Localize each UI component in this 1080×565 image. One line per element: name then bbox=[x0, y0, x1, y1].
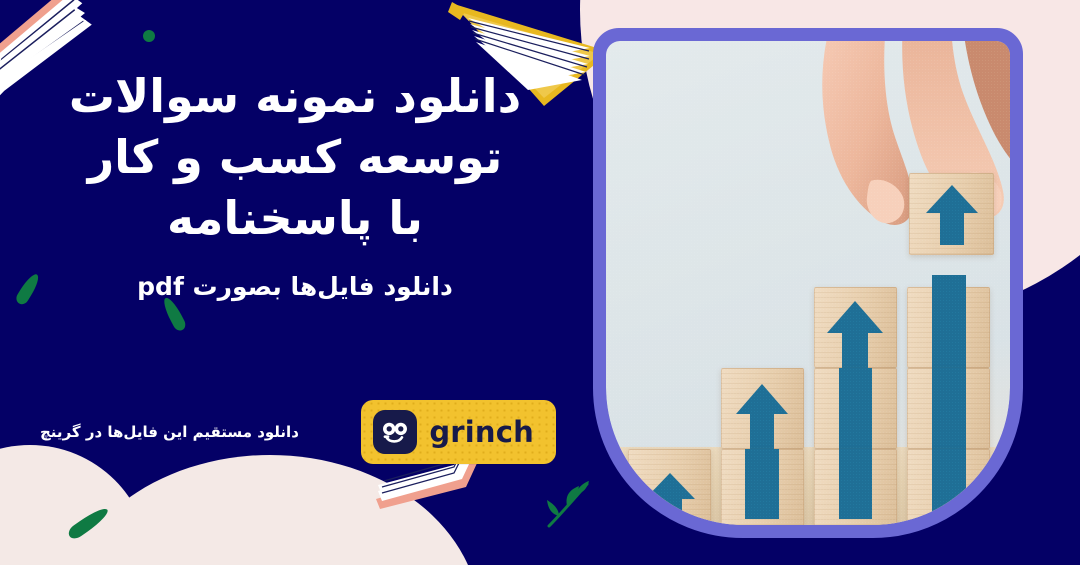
arrow-stem-icon bbox=[839, 449, 872, 521]
copy-block: دانلود نمونه سوالات توسعه کسب و کار با پ… bbox=[0, 0, 590, 565]
brand-row: grinch دانلود مستقیم این فایل‌ها در گرین… bbox=[34, 400, 556, 464]
page-title: دانلود نمونه سوالات توسعه کسب و کار با پ… bbox=[34, 0, 556, 250]
arrow-up-icon bbox=[642, 471, 698, 525]
smiley-face-icon bbox=[373, 410, 417, 454]
tagline: دانلود مستقیم این فایل‌ها در گرینچ bbox=[40, 423, 299, 441]
wooden-block-col1 bbox=[628, 449, 711, 525]
headline-line-2: توسعه کسب و کار bbox=[34, 127, 556, 188]
wooden-block-held bbox=[909, 173, 994, 255]
headline-line-1: دانلود نمونه سوالات bbox=[34, 66, 556, 127]
wooden-block-col2-top bbox=[721, 368, 804, 449]
brand-name: grinch bbox=[429, 415, 534, 449]
arrow-up-icon bbox=[923, 183, 981, 247]
growth-blocks-photo-frame bbox=[593, 28, 1023, 538]
wooden-block-col4-bottom bbox=[907, 449, 990, 525]
headline-line-3: با پاسخنامه bbox=[34, 188, 556, 249]
wooden-block-col3-bottom bbox=[814, 449, 897, 525]
arrow-stem-icon bbox=[932, 449, 966, 521]
wooden-block-col2-bottom bbox=[721, 449, 804, 525]
wooden-block-col4-mid bbox=[907, 368, 990, 449]
wooden-block-col3-top bbox=[814, 287, 897, 368]
arrow-stem-icon bbox=[745, 449, 779, 521]
growth-blocks-photo bbox=[606, 41, 1010, 525]
arrow-up-icon bbox=[733, 382, 791, 452]
wooden-block-col4-top bbox=[907, 287, 990, 368]
wooden-block-col3-mid bbox=[814, 368, 897, 449]
promo-banner: دانلود نمونه سوالات توسعه کسب و کار با پ… bbox=[0, 0, 1080, 565]
arrow-up-icon bbox=[824, 299, 886, 371]
arrow-stem-icon bbox=[839, 368, 872, 450]
arrow-stem-icon bbox=[932, 368, 966, 450]
subheadline: دانلود فایل‌ها بصورت pdf bbox=[34, 272, 556, 301]
arrow-stem-icon bbox=[932, 275, 966, 369]
brand-badge[interactable]: grinch bbox=[361, 400, 556, 464]
